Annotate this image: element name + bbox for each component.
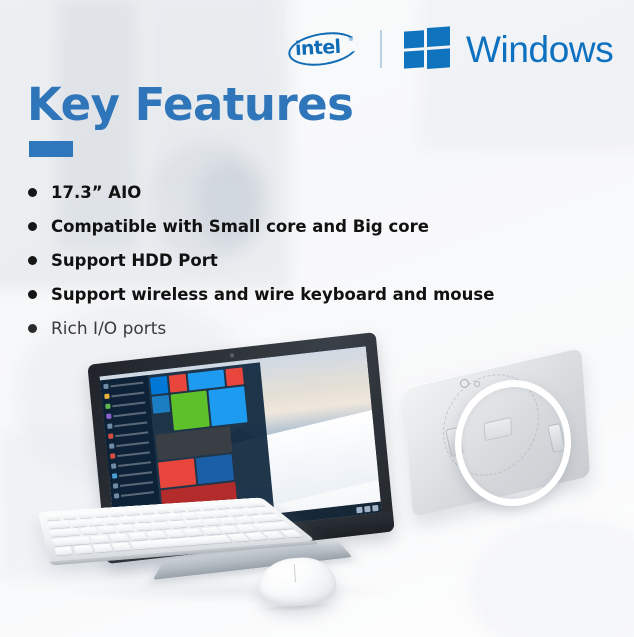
title-underline-rule xyxy=(29,141,73,157)
key[interactable] xyxy=(48,521,71,529)
windows-pane-bottom-right xyxy=(427,48,450,69)
app-icon xyxy=(103,384,108,390)
key[interactable] xyxy=(168,521,188,528)
list-item: Compatible with Small core and Big core xyxy=(28,214,528,248)
app-label-line xyxy=(111,391,144,397)
app-label-line xyxy=(118,461,151,467)
app-label-line xyxy=(110,381,143,387)
key[interactable] xyxy=(146,531,166,539)
app-icon xyxy=(110,453,115,459)
windows-pane-top-left xyxy=(404,30,424,48)
key[interactable] xyxy=(91,535,110,543)
rear-indicator-icon xyxy=(474,381,480,387)
bullet-dot-icon xyxy=(28,222,37,231)
rear-camera-icon xyxy=(460,379,469,388)
windows-pane-top-right xyxy=(427,26,450,47)
system-tray[interactable] xyxy=(356,504,378,512)
key[interactable] xyxy=(80,527,98,535)
brand-logo-bar: intel ® Windows xyxy=(286,22,616,76)
tile[interactable] xyxy=(169,374,188,393)
app-label-line xyxy=(115,431,148,437)
windows-pane-bottom-left xyxy=(404,50,424,68)
feature-list: 17.3” AIO Compatible with Small core and… xyxy=(28,180,528,350)
app-icon xyxy=(105,404,110,410)
key[interactable] xyxy=(87,519,103,526)
fn-key[interactable] xyxy=(74,545,93,554)
list-item: Support HDD Port xyxy=(28,248,528,282)
app-label-line xyxy=(120,481,153,487)
windows-wordmark: Windows xyxy=(466,31,613,68)
list-item: Support wireless and wire keyboard and m… xyxy=(28,282,528,316)
desk-shadow xyxy=(60,578,390,604)
key[interactable] xyxy=(134,515,151,522)
logo-divider xyxy=(380,30,382,68)
power-icon xyxy=(114,493,119,499)
key[interactable] xyxy=(108,510,124,517)
aio-rear-view xyxy=(398,362,596,512)
app-icon xyxy=(104,394,109,400)
clock[interactable] xyxy=(372,504,379,511)
app-label-line xyxy=(112,401,145,407)
network-icon[interactable] xyxy=(356,506,363,513)
app-icon xyxy=(111,463,116,469)
key[interactable] xyxy=(150,514,167,521)
key[interactable] xyxy=(154,507,171,514)
key[interactable] xyxy=(201,519,221,526)
app-label-line xyxy=(116,441,149,447)
windows-flag-icon xyxy=(404,26,450,71)
tile[interactable] xyxy=(171,391,210,431)
app-icon xyxy=(108,433,113,439)
win-key[interactable] xyxy=(93,544,113,553)
app-label-line xyxy=(119,471,152,477)
key[interactable] xyxy=(241,501,265,508)
key[interactable] xyxy=(71,520,87,527)
intel-registered-mark: ® xyxy=(349,37,353,43)
intel-wordmark: intel xyxy=(294,36,341,60)
wireless-mouse[interactable] xyxy=(256,555,337,608)
bullet-dot-icon xyxy=(28,256,37,265)
key[interactable] xyxy=(139,508,156,515)
app-label-line xyxy=(117,451,150,457)
key[interactable] xyxy=(165,530,186,538)
alt-key[interactable] xyxy=(112,543,132,552)
app-label-line xyxy=(113,411,146,417)
enter-key[interactable] xyxy=(251,514,283,522)
key[interactable] xyxy=(103,518,120,525)
key[interactable] xyxy=(93,511,109,518)
page-title: Key Features xyxy=(27,82,353,127)
key[interactable] xyxy=(46,514,61,521)
key[interactable] xyxy=(183,505,200,511)
start-menu-item[interactable] xyxy=(114,488,158,500)
tile[interactable] xyxy=(209,386,248,426)
feature-label: 17.3” AIO xyxy=(51,180,141,206)
bullet-dot-icon xyxy=(28,290,37,299)
volume-icon[interactable] xyxy=(364,505,371,512)
key[interactable] xyxy=(124,509,140,516)
feature-label: Support HDD Port xyxy=(51,248,218,274)
app-icon xyxy=(109,443,114,449)
tile[interactable] xyxy=(196,454,234,484)
app-icon xyxy=(107,423,112,429)
key[interactable] xyxy=(165,513,183,520)
app-label-line xyxy=(114,421,147,427)
feature-label: Support wireless and wire keyboard and m… xyxy=(51,282,494,308)
intel-logo: intel ® xyxy=(286,27,362,71)
key[interactable] xyxy=(169,506,186,512)
tile[interactable] xyxy=(188,369,225,390)
product-photo-group xyxy=(0,330,634,637)
key[interactable] xyxy=(185,520,205,527)
key[interactable] xyxy=(98,526,116,534)
key[interactable] xyxy=(50,528,80,537)
feature-label: Compatible with Small core and Big core xyxy=(51,214,429,240)
tile[interactable] xyxy=(150,376,169,395)
key[interactable] xyxy=(109,534,129,542)
key[interactable] xyxy=(119,517,136,524)
key[interactable] xyxy=(133,523,152,531)
tile[interactable] xyxy=(226,367,245,386)
bullet-dot-icon xyxy=(28,188,37,197)
key[interactable] xyxy=(183,528,204,536)
key[interactable] xyxy=(62,513,77,520)
key[interactable] xyxy=(151,522,170,530)
app-icon xyxy=(113,483,118,489)
app-icon xyxy=(112,473,117,479)
list-item: 17.3” AIO xyxy=(28,180,528,214)
key[interactable] xyxy=(128,532,148,540)
ctrl-key[interactable] xyxy=(54,547,73,556)
app-label-line xyxy=(121,491,154,497)
tile[interactable] xyxy=(158,458,196,488)
key[interactable] xyxy=(77,512,93,519)
app-icon xyxy=(106,413,111,419)
tile[interactable] xyxy=(152,395,171,414)
key[interactable] xyxy=(116,525,135,533)
slide-canvas: intel ® Windows Key Features 17.3” AIO C… xyxy=(0,0,634,637)
